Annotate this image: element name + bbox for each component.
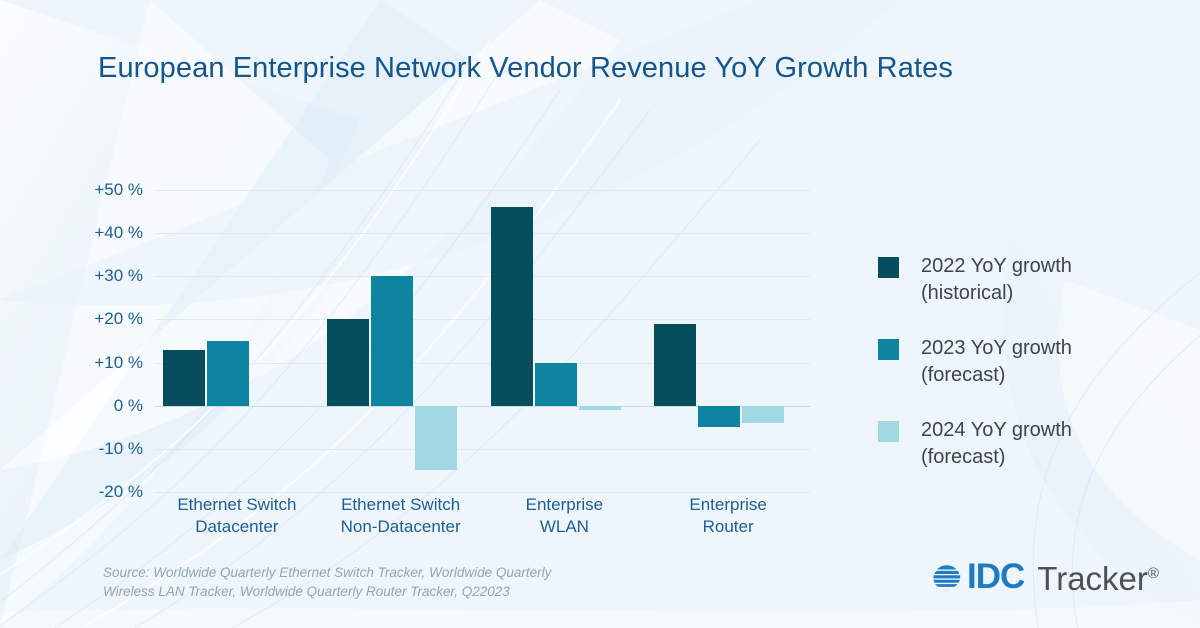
bar [654,324,696,406]
bar-group [646,190,810,492]
bar [207,341,249,406]
tracker-wordmark: Tracker® [1037,557,1159,596]
y-axis-tick-label: +40 % [53,223,143,243]
chart-plot-area [155,190,810,492]
bar [535,363,577,406]
bar [742,406,784,423]
legend-item-label: 2023 YoY growth (forecast) [921,335,1072,389]
bar [698,406,740,428]
x-axis-label: Enterprise Router [646,494,810,538]
gridline--20 [155,492,810,493]
bar [579,406,621,410]
bar-group [483,190,647,492]
legend-swatch-2023 [878,339,899,360]
tracker-text: Tracker [1037,560,1148,597]
idc-wordmark: IDC [967,560,1024,594]
x-axis-category-labels: Ethernet Switch DatacenterEthernet Switc… [155,494,810,544]
bar [491,207,533,405]
bar [371,276,413,405]
bar-group [155,190,319,492]
page-title: European Enterprise Network Vendor Reven… [98,52,953,85]
y-axis-tick-label: -10 % [53,439,143,459]
legend-item[interactable]: 2024 YoY growth (forecast) [878,417,1178,471]
legend-swatch-2024 [878,421,899,442]
registered-mark: ® [1148,565,1159,582]
y-axis-tick-label: +30 % [53,266,143,286]
bar [163,350,205,406]
globe-icon [930,560,964,594]
bar [327,319,369,405]
y-axis-tick-label: +10 % [53,353,143,373]
y-axis-tick-label: 0 % [53,396,143,416]
source-note: Source: Worldwide Quarterly Ethernet Swi… [103,563,663,601]
legend-item-label: 2022 YoY growth (historical) [921,253,1072,307]
idc-tracker-logo: IDC Tracker® [930,557,1159,596]
y-axis-tick-label: -20 % [53,482,143,502]
legend-swatch-2022 [878,257,899,278]
chart-legend: 2022 YoY growth (historical)2023 YoY gro… [878,253,1178,499]
y-axis-tick-label: +20 % [53,309,143,329]
legend-item[interactable]: 2022 YoY growth (historical) [878,253,1178,307]
x-axis-label: Enterprise WLAN [483,494,647,538]
x-axis-label: Ethernet Switch Non-Datacenter [319,494,483,538]
x-axis-label: Ethernet Switch Datacenter [155,494,319,538]
bar [415,406,457,471]
y-axis-tick-label: +50 % [53,180,143,200]
bar-group [319,190,483,492]
legend-item[interactable]: 2023 YoY growth (forecast) [878,335,1178,389]
legend-item-label: 2024 YoY growth (forecast) [921,417,1072,471]
